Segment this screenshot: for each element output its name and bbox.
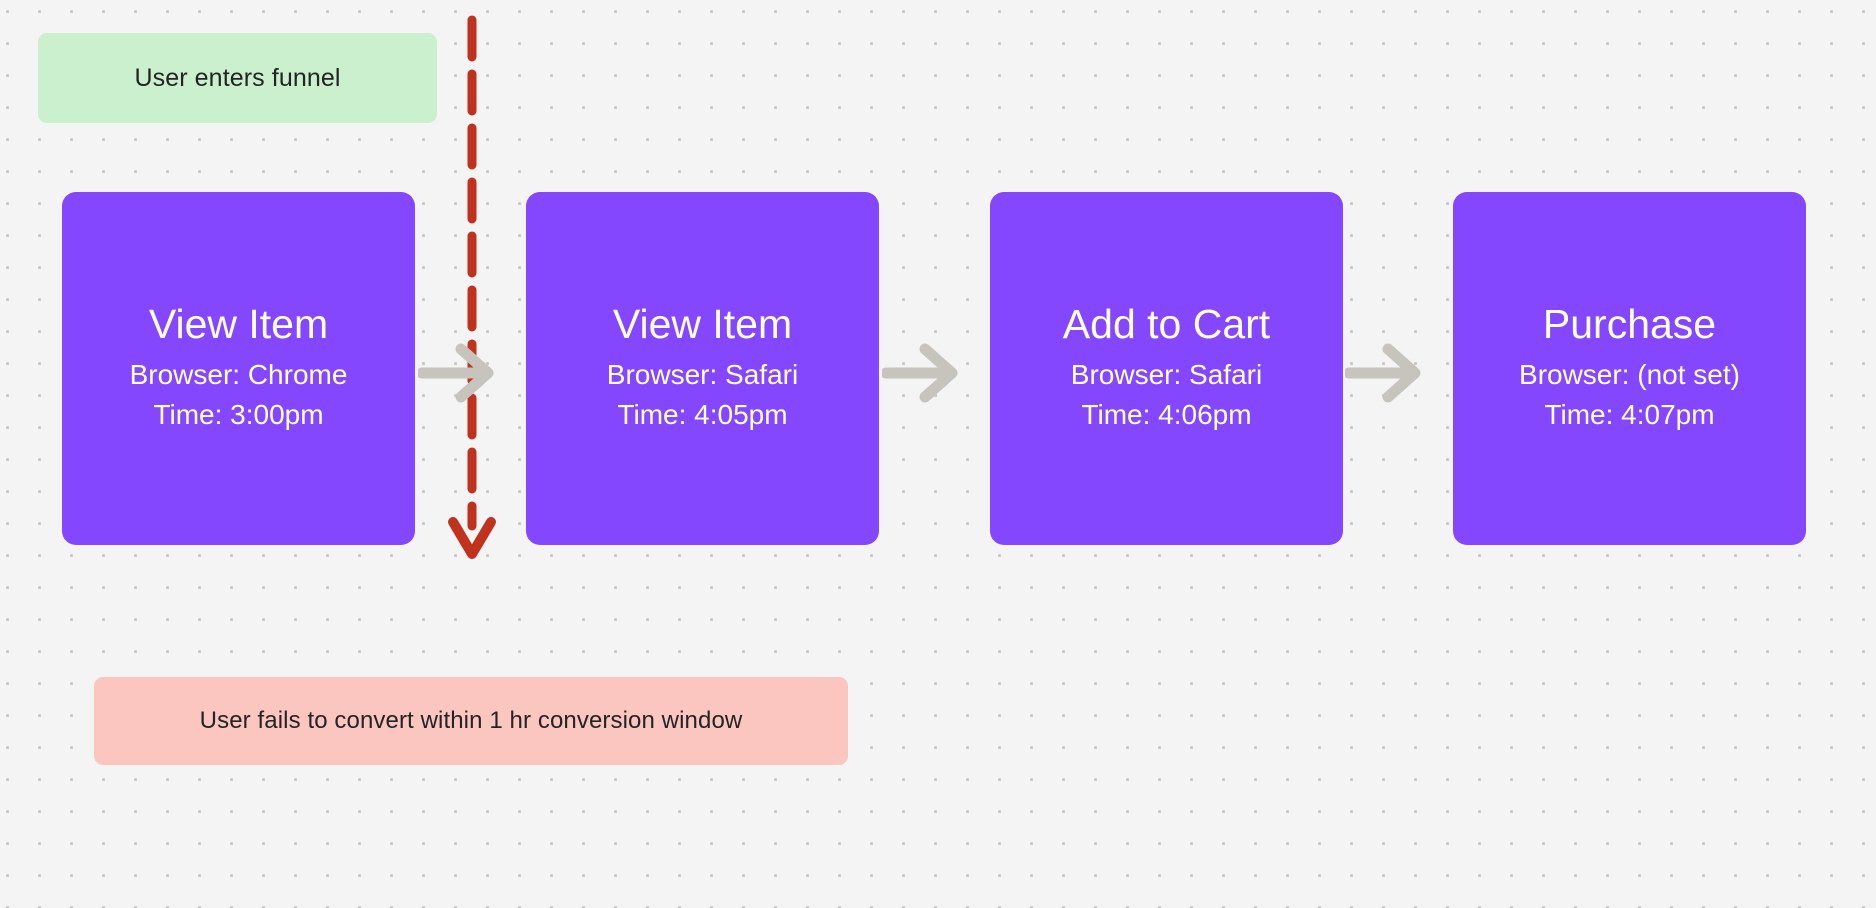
funnel-step-card-purchase[interactable]: Purchase Browser: (not set) Time: 4:07pm (1453, 192, 1806, 545)
funnel-step-card-view-item-safari[interactable]: View Item Browser: Safari Time: 4:05pm (526, 192, 879, 545)
step-time: Time: 3:00pm (153, 395, 323, 435)
step-time: Time: 4:06pm (1081, 395, 1251, 435)
step-browser: Browser: (not set) (1519, 355, 1740, 395)
failure-annotation-box[interactable]: User fails to convert within 1 hr conver… (94, 677, 848, 765)
flow-arrow-3 (1345, 338, 1425, 408)
arrow-right-icon (882, 338, 962, 408)
diagram-canvas: User enters funnel View Item Browser: Ch… (0, 0, 1876, 908)
failure-annotation-label: User fails to convert within 1 hr conver… (200, 707, 743, 736)
step-browser: Browser: Chrome (130, 355, 348, 395)
step-title: View Item (149, 302, 328, 348)
step-title: View Item (613, 302, 792, 348)
entry-annotation-box[interactable]: User enters funnel (38, 33, 437, 123)
step-browser: Browser: Safari (607, 355, 798, 395)
flow-arrow-1 (418, 338, 498, 408)
entry-annotation-label: User enters funnel (134, 63, 340, 93)
arrow-right-icon (418, 338, 498, 408)
step-time: Time: 4:07pm (1544, 395, 1714, 435)
arrow-right-icon (1345, 338, 1425, 408)
step-title: Add to Cart (1063, 302, 1270, 348)
flow-arrow-2 (882, 338, 962, 408)
step-title: Purchase (1543, 302, 1716, 348)
step-browser: Browser: Safari (1071, 355, 1262, 395)
funnel-step-card-add-to-cart[interactable]: Add to Cart Browser: Safari Time: 4:06pm (990, 192, 1343, 545)
funnel-step-card-view-item-chrome[interactable]: View Item Browser: Chrome Time: 3:00pm (62, 192, 415, 545)
step-time: Time: 4:05pm (617, 395, 787, 435)
